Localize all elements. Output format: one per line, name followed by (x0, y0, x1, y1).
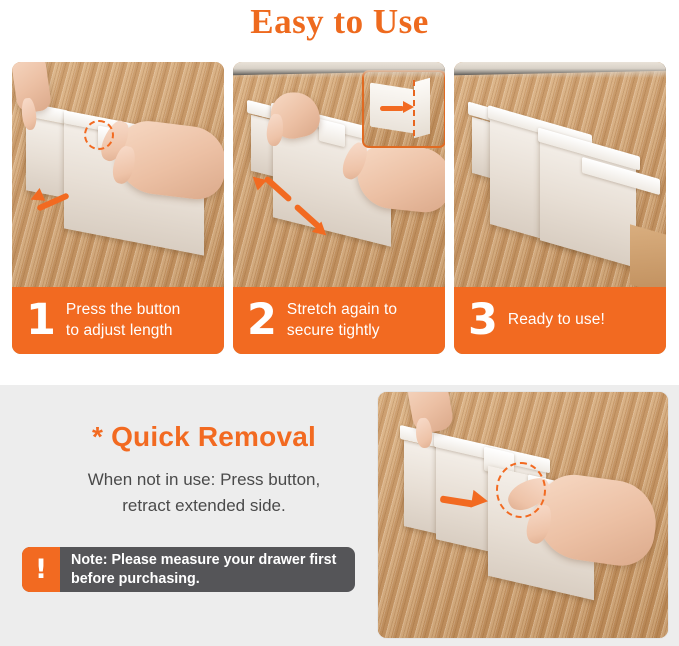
quick-removal-section: * Quick Removal When not in use: Press b… (0, 385, 679, 646)
quick-removal-body-line2: retract extended side. (122, 496, 285, 515)
step-3-text: Ready to use! (508, 310, 605, 330)
step-2-text: Stretch again to secure tightly (287, 300, 397, 341)
step-1-number: 1 (26, 299, 56, 342)
drawer-rail (233, 64, 445, 75)
step-3-number: 3 (468, 299, 498, 342)
step-card-1: 1 Press the button to adjust length (12, 62, 224, 354)
step-2-line2: secure tightly (287, 322, 380, 339)
step-1-line2: to adjust length (66, 322, 173, 339)
quick-removal-body: When not in use: Press button, retract e… (34, 467, 374, 520)
steps-row: 1 Press the button to adjust length (12, 62, 667, 354)
step-1-caption: 1 Press the button to adjust length (12, 287, 224, 354)
drawer-rail (454, 64, 666, 75)
note-text: Note: Please measure your drawer first b… (60, 547, 355, 592)
step-2-line1: Stretch again to (287, 301, 397, 318)
quick-removal-body-line1: When not in use: Press button, (88, 470, 320, 489)
dashed-circle-icon (84, 120, 114, 150)
inset-detail-box (362, 70, 445, 148)
step-3-line1: Ready to use! (508, 311, 605, 328)
quick-removal-heading: * Quick Removal (44, 421, 364, 453)
easy-to-use-section: Easy to Use (0, 0, 679, 385)
dashed-circle-icon (496, 462, 546, 518)
note-box: ! Note: Please measure your drawer first… (22, 547, 355, 592)
quick-removal-photo (378, 392, 668, 638)
page-title: Easy to Use (0, 2, 679, 42)
step-2-caption: 2 Stretch again to secure tightly (233, 287, 445, 354)
note-lead: Note: (71, 552, 108, 568)
step-card-3: 3 Ready to use! (454, 62, 666, 354)
step-2-number: 2 (247, 299, 277, 342)
note-body: Please measure your drawer first before … (71, 552, 336, 587)
step-1-line1: Press the button (66, 301, 180, 318)
step-3-caption: 3 Ready to use! (454, 287, 666, 354)
exclamation-icon: ! (22, 547, 60, 592)
step-card-2: 2 Stretch again to secure tightly (233, 62, 445, 354)
step-1-text: Press the button to adjust length (66, 300, 180, 341)
